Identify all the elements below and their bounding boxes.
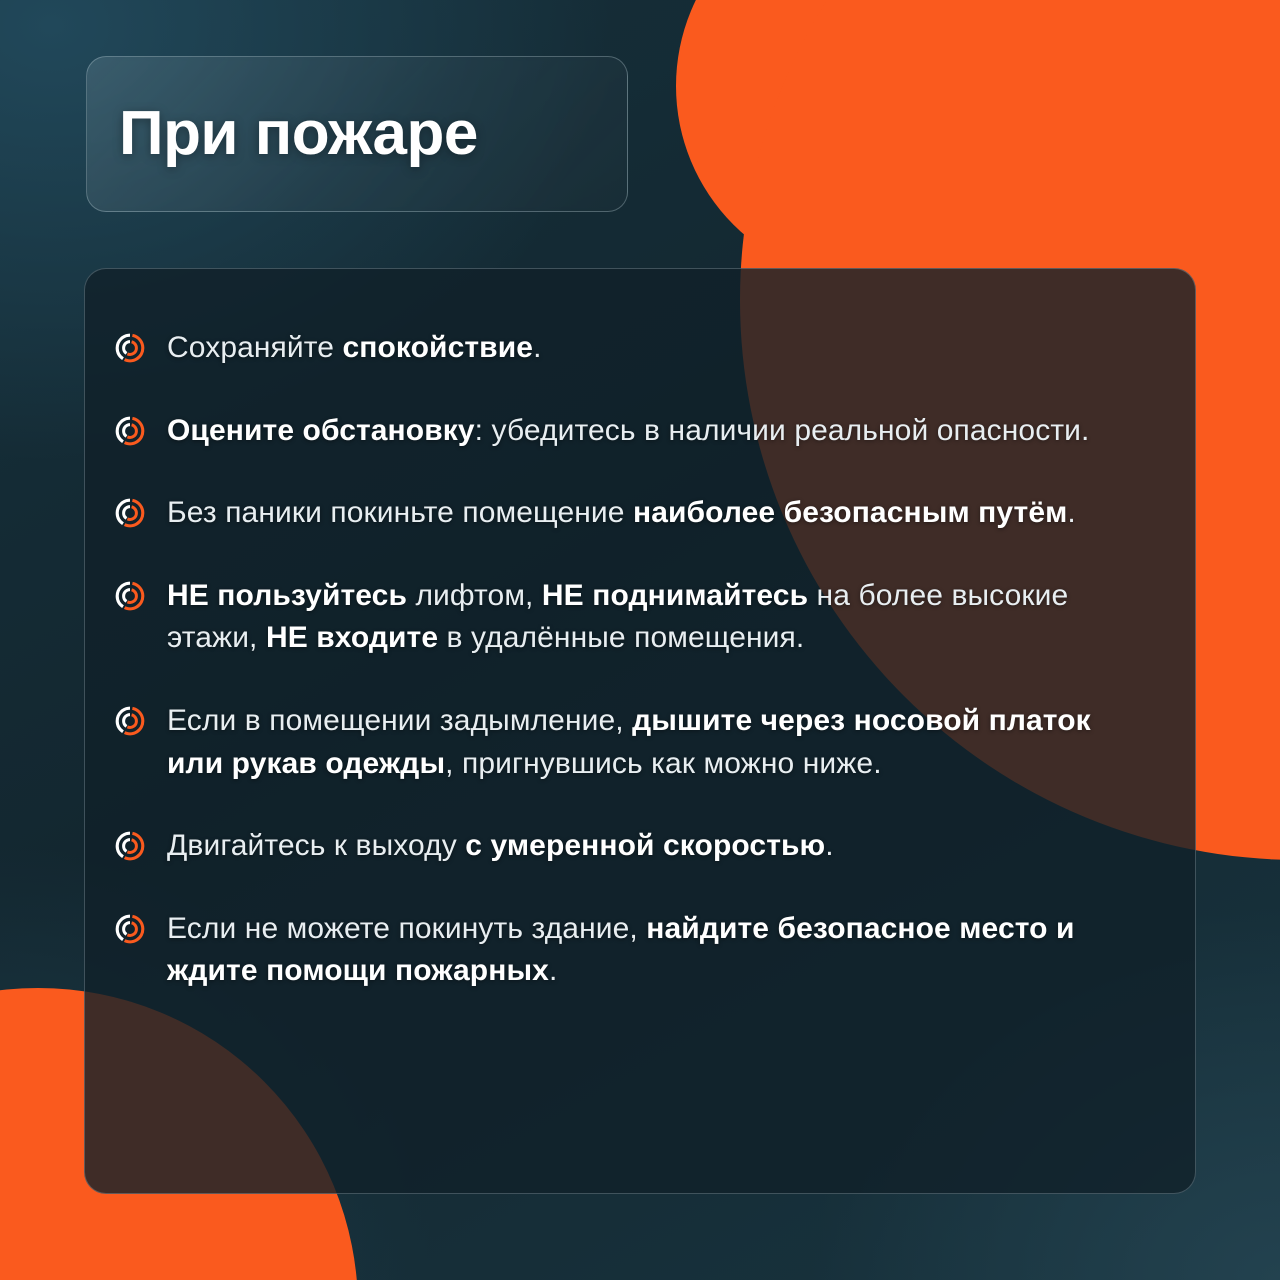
plain-text: . [825, 829, 833, 862]
emphasis-text: наиболее безопасным путём [633, 496, 1067, 529]
plain-text: . [549, 954, 557, 987]
title-card: При пожаре [86, 56, 628, 212]
plain-text: в удалённые помещения. [438, 621, 804, 654]
plain-text: лифтом, [407, 579, 542, 612]
target-ring-icon [115, 416, 145, 446]
list-item: Если не можете покинуть здание, найдите … [115, 908, 1149, 993]
plain-text: Без паники покиньте помещение [167, 496, 633, 529]
target-ring-icon [115, 333, 145, 363]
instructions-card: Сохраняйте спокойствие.Оцените обстановк… [84, 268, 1196, 1194]
emphasis-text: Оцените обстановку [167, 414, 475, 447]
emphasis-text: с умеренной скоростью [465, 829, 825, 862]
instructions-list: Сохраняйте спокойствие.Оцените обстановк… [115, 327, 1149, 993]
target-ring-icon [115, 706, 145, 736]
target-ring-icon [115, 831, 145, 861]
target-ring-icon [115, 581, 145, 611]
emphasis-text: НЕ входите [266, 621, 438, 654]
list-item-text: Без паники покиньте помещение наиболее б… [167, 492, 1076, 535]
poster-stage: При пожаре Сохраняйте спокойствие.Оценит… [0, 0, 1280, 1280]
emphasis-text: спокойствие [342, 331, 533, 364]
plain-text: Если в помещении задымление, [167, 704, 632, 737]
plain-text: Двигайтесь к выходу [167, 829, 465, 862]
list-item: Без паники покиньте помещение наиболее б… [115, 492, 1149, 535]
list-item: Если в помещении задымление, дышите чере… [115, 700, 1149, 785]
list-item-text: Двигайтесь к выходу с умеренной скорость… [167, 825, 834, 868]
plain-text: : убедитесь в наличии реальной опасности… [475, 414, 1090, 447]
emphasis-text: НЕ пользуйтесь [167, 579, 407, 612]
list-item-text: Оцените обстановку: убедитесь в наличии … [167, 410, 1089, 453]
plain-text: Сохраняйте [167, 331, 342, 364]
list-item: Двигайтесь к выходу с умеренной скорость… [115, 825, 1149, 868]
list-item: Оцените обстановку: убедитесь в наличии … [115, 410, 1149, 453]
plain-text: , пригнувшись как можно ниже. [445, 747, 881, 780]
plain-text: . [1067, 496, 1075, 529]
page-title: При пожаре [119, 103, 478, 165]
list-item-text: Сохраняйте спокойствие. [167, 327, 542, 370]
list-item: Сохраняйте спокойствие. [115, 327, 1149, 370]
list-item-text: Если в помещении задымление, дышите чере… [167, 700, 1149, 785]
target-ring-icon [115, 498, 145, 528]
target-ring-icon [115, 914, 145, 944]
list-item-text: НЕ пользуйтесь лифтом, НЕ поднимайтесь н… [167, 575, 1149, 660]
list-item-text: Если не можете покинуть здание, найдите … [167, 908, 1149, 993]
plain-text: Если не можете покинуть здание, [167, 912, 646, 945]
plain-text: . [533, 331, 541, 364]
list-item: НЕ пользуйтесь лифтом, НЕ поднимайтесь н… [115, 575, 1149, 660]
emphasis-text: НЕ поднимайтесь [542, 579, 808, 612]
